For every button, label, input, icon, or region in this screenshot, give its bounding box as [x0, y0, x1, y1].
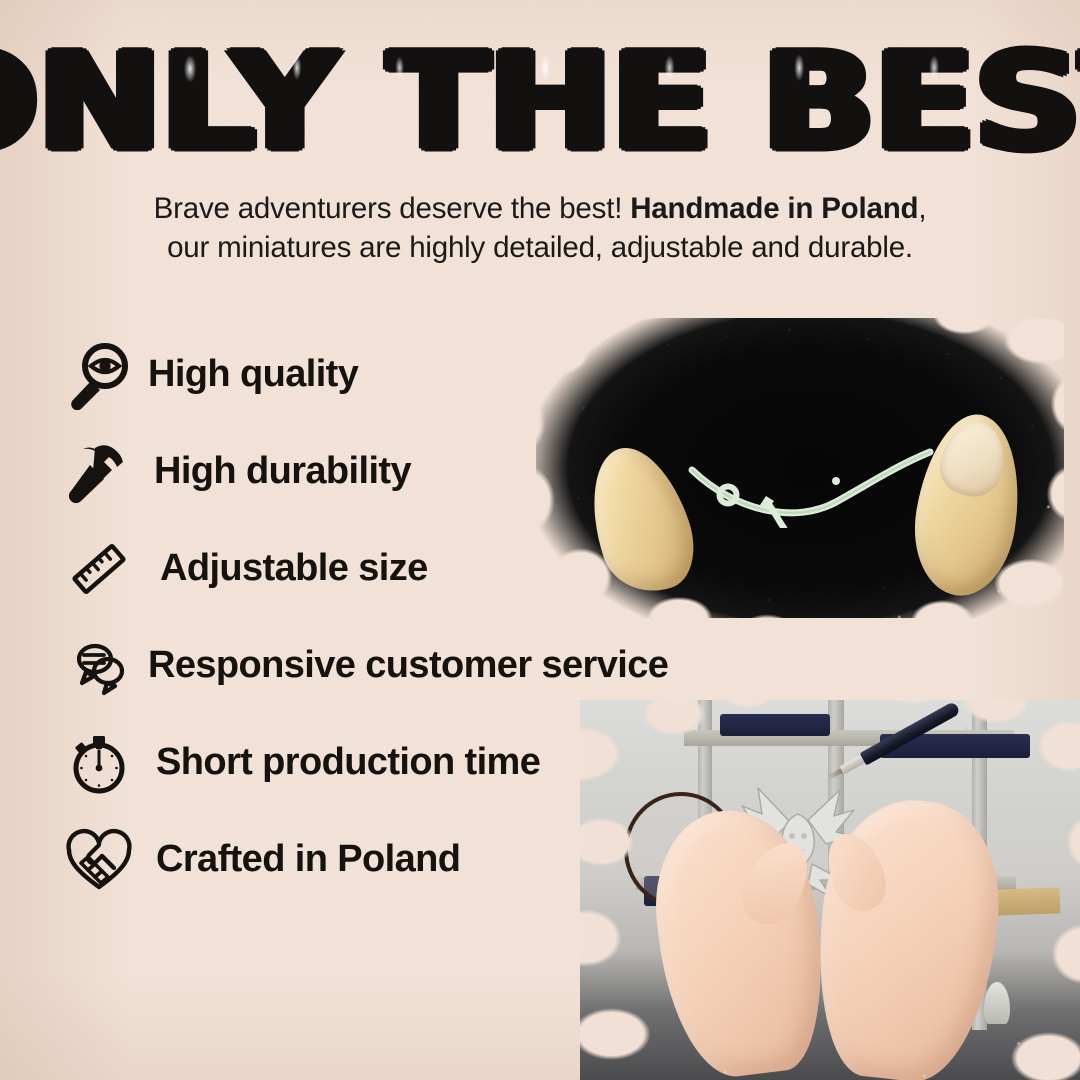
subtitle-line2: our miniatures are highly detailed, adju… — [167, 231, 913, 264]
photo-torn-edge-fuzz — [580, 700, 1080, 1080]
feature-label: Responsive customer service — [148, 644, 668, 687]
magnifier-eye-icon — [60, 336, 138, 414]
ruler-icon — [60, 530, 138, 608]
subtitle-line1-suffix: , — [918, 192, 926, 225]
product-feature-graphic: ONLY THE BEST Brave adventurers deserve … — [0, 0, 1080, 1080]
stopwatch-icon — [60, 724, 138, 802]
page-title: ONLY THE BEST — [0, 36, 1080, 170]
heart-handshake-icon — [60, 821, 138, 899]
hammer-icon — [60, 433, 138, 511]
feature-label: High durability — [154, 450, 411, 493]
headline-block: ONLY THE BEST — [0, 36, 1080, 164]
feature-label: Adjustable size — [160, 547, 428, 590]
photo-hands-painting-miniature — [580, 700, 1080, 1080]
subtitle: Brave adventurers deserve the best! Hand… — [60, 190, 1020, 268]
feature-label: Short production time — [156, 741, 540, 784]
speech-bubbles-icon — [60, 627, 138, 705]
subtitle-line1-bold: Handmade in Poland — [630, 192, 918, 225]
subtitle-line1-prefix: Brave adventurers deserve the best! — [154, 192, 631, 225]
photo-fingers-holding-miniature — [536, 318, 1064, 618]
feature-label: High quality — [148, 353, 358, 396]
photo-torn-edge-fuzz — [536, 318, 1064, 618]
feature-label: Crafted in Poland — [156, 838, 460, 881]
